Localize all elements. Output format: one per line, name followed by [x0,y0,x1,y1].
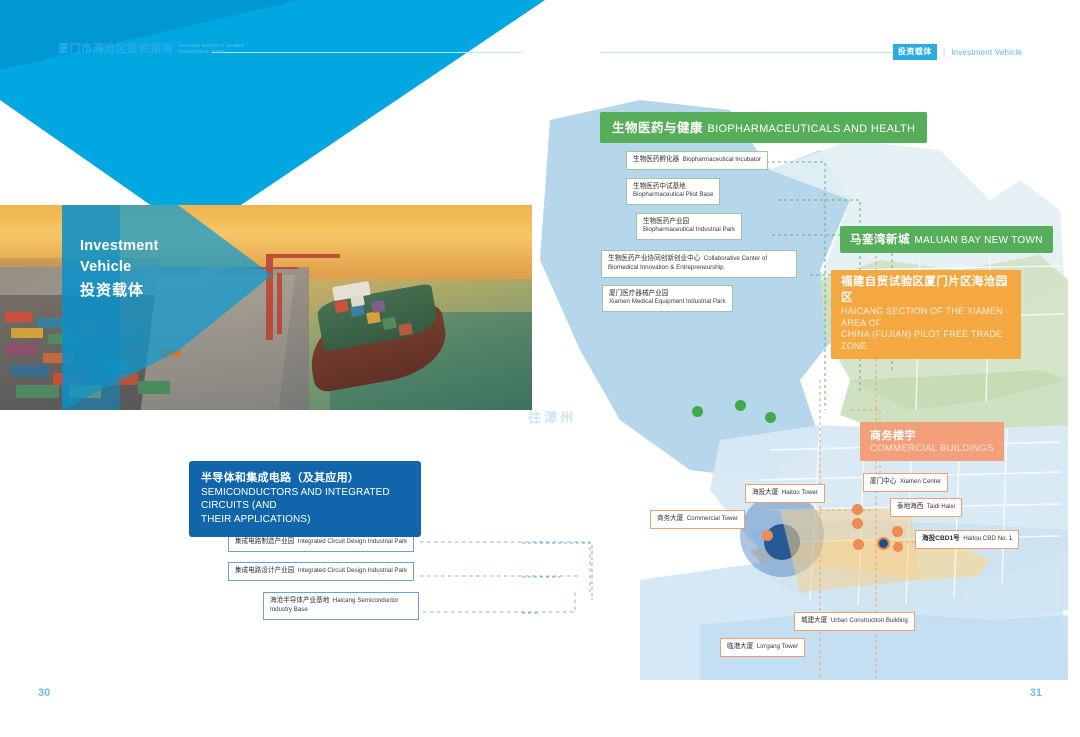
guide-title-en: HAICANG DISTRICT, XIAMEN INVESTMENT GUID… [179,43,244,55]
hero-title-en-2: Vehicle [80,257,159,278]
label-integrated-circuit-design-park[interactable]: 集成电路设计产业园 Integrated Circuit Design Indu… [228,562,414,581]
section-tag-en: Investment Vehicle [951,48,1022,57]
banner-semi-cn: 半导体和集成电路（及其应用） [201,469,409,485]
banner-ftz-en-1: HAICANG SECTION OF THE XIAMEN AREA OF [841,306,1011,329]
brochure-spread: 厦门市海沧区投资指南 HAICANG DISTRICT, XIAMEN INVE… [0,0,1080,737]
map-marker-commercial[interactable] [852,504,863,515]
map-marker-commercial[interactable] [853,539,864,550]
map-marker-biopharma[interactable] [735,400,746,411]
label-en: Lin'gang Tower [757,643,798,650]
banner-commercial-cn: 商务楼宇 [870,427,994,443]
label-biopharmaceutical-pilot-base[interactable]: 生物医药中试基地 Biopharmaceutical Pilot Base [626,178,720,205]
banner-maluan-cn: 马銮湾新城 [850,234,910,246]
label-cn: 厦门中心 [870,478,896,485]
label-cn: 集成电路设计产业园 [235,567,294,574]
hero-title: Investment Vehicle 投资载体 [80,236,159,301]
banner-pilot-free-trade-zone: 福建自贸试验区厦门片区海沧园区 HAICANG SECTION OF THE X… [831,270,1021,359]
banner-biopharmaceuticals: 生物医药与健康 BIOPHARMACEUTICALS AND HEALTH [600,112,927,143]
label-commercial-tower[interactable]: 商务大厦 Commercial Tower [650,510,745,529]
label-cn: 生物医药产业园 [643,217,735,226]
label-cn: 海沧半导体产业基地 [270,597,329,604]
section-tag-cn: 投资载体 [893,44,937,60]
map-marker-haitou-cbd[interactable] [877,537,890,550]
banner-maluan-en: MALUAN BAY NEW TOWN [914,235,1042,246]
banner-commercial-en: COMMERCIAL BUILDINGS [870,443,994,454]
label-en: Urban Construction Building [831,617,908,624]
banner-biopharma-en: BIOPHARMACEUTICALS AND HEALTH [707,123,915,135]
banner-maluan-bay-new-town: 马銮湾新城 MALUAN BAY NEW TOWN [840,226,1053,253]
label-xiamen-center[interactable]: 厦门中心 Xiamen Center [863,473,948,492]
guide-title-en-line1: HAICANG DISTRICT, XIAMEN [179,43,244,48]
header-rule-left [212,52,522,53]
label-xiamen-medical-equipment-industrial-park[interactable]: 厦门医疗器械产业园 Xiamen Medical Equipment Indus… [602,285,733,312]
direction-label-zhangzhou: 往漳州 [528,407,576,426]
label-cn: 商务大厦 [657,515,683,522]
label-haitou-tower[interactable]: 海投大厦 Haitou Tower [745,484,825,503]
banner-commercial-buildings: 商务楼宇 COMMERCIAL BUILDINGS [860,422,1004,461]
map-marker-commercial[interactable] [893,542,903,552]
hero-title-cn: 投资载体 [80,280,159,301]
label-en: Xiamen Medical Equipment Industrial Park [609,298,726,307]
map-marker-commercial[interactable] [892,526,903,537]
page-number-left: 30 [38,687,50,699]
label-cn: 泰地海西 [897,503,923,510]
label-en: Biopharmaceutical Pilot Base [633,191,713,200]
label-en: Biopharmaceutical Incubator [683,156,761,163]
label-cn: 集成电路制造产业园 [235,538,294,545]
map-marker-biopharma[interactable] [765,412,776,423]
header-right: 投资载体 | Investment Vehicle [893,44,1022,60]
header-left: 厦门市海沧区投资指南 HAICANG DISTRICT, XIAMEN INVE… [58,43,244,55]
page-number-right: 31 [1030,687,1042,699]
label-biopharmaceutical-incubator[interactable]: 生物医药孵化器 Biopharmaceutical Incubator [626,151,768,170]
banner-semi-en-2: THEIR APPLICATIONS) [201,514,409,527]
banner-ftz-cn: 福建自贸试验区厦门片区海沧园区 [841,275,1011,306]
label-en: Haitou CBD No. 1 [963,535,1012,542]
banner-semi-en-1: SEMICONDUCTORS AND INTEGRATED CIRCUITS (… [201,487,409,512]
hero-title-en-1: Investment [80,236,159,257]
label-cn: 城建大厦 [801,617,827,624]
header-rule-right [600,52,910,53]
label-cn: 临港大厦 [727,643,753,650]
guide-title-en-line2: INVESTMENT GUIDE [179,49,226,54]
label-haicang-semiconductor-industry-base[interactable]: 海沧半导体产业基地 Haicang Semiconductor Industry… [263,592,419,620]
label-cn: 生物医药中试基地 [633,182,713,191]
banner-ftz-en-2: CHINA (FUJIAN) PILOT FREE TRADE ZONE [841,329,1011,352]
label-en: Taidi Haixi [927,503,955,510]
label-en: Biopharmaceutical Industrial Park [643,226,735,235]
map-marker-commercial[interactable] [762,530,773,541]
label-urban-construction-building[interactable]: 城建大厦 Urban Construction Building [794,612,915,631]
map-marker-biopharma[interactable] [692,406,703,417]
label-biopharmaceutical-industrial-park[interactable]: 生物医药产业园 Biopharmaceutical Industrial Par… [636,213,742,240]
label-cn: 生物医药产业协同创新创业中心 [608,255,700,262]
label-en: Integrated Circuit Design Industrial Par… [298,538,407,545]
label-cn: 海投大厦 [752,489,778,496]
label-en: Integrated Circuit Design Industrial Par… [298,567,407,574]
label-lingang-tower[interactable]: 临港大厦 Lin'gang Tower [720,638,805,657]
label-cn: 海投CBD1号 [922,535,960,542]
label-collaborative-center-biomedical-innovation[interactable]: 生物医药产业协同创新创业中心 Collaborative Center of B… [601,250,797,278]
header-separator: | [943,47,945,57]
banner-biopharma-cn: 生物医药与健康 [612,121,703,135]
label-en: Xiamen Center [900,478,941,485]
label-haitou-cbd-no1[interactable]: 海投CBD1号 Haitou CBD No. 1 [915,530,1019,549]
label-en: Haitou Tower [782,489,818,496]
guide-title-cn: 厦门市海沧区投资指南 [58,43,173,55]
label-cn: 厦门医疗器械产业园 [609,289,726,298]
label-en: Commercial Tower [687,515,738,522]
label-cn: 生物医药孵化器 [633,156,679,163]
label-taidi-haixi[interactable]: 泰地海西 Taidi Haixi [890,498,962,517]
banner-semiconductors: 半导体和集成电路（及其应用） SEMICONDUCTORS AND INTEGR… [189,461,421,537]
map-marker-commercial[interactable] [852,518,863,529]
